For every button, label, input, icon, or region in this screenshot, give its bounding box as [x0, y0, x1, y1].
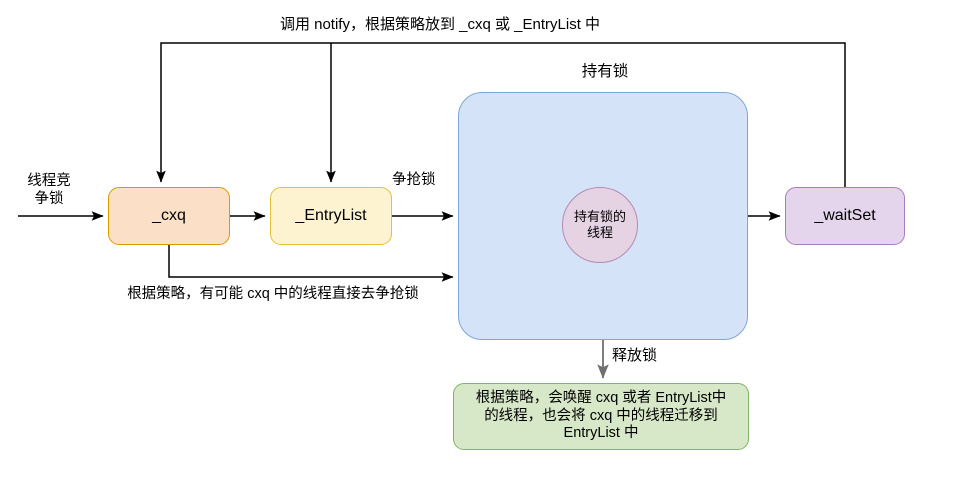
node-waitset[interactable]: _waitSet [785, 187, 905, 245]
node-release-note-label: 根据策略，会唤醒 cxq 或者 EntryList中 的线程，也会将 cxq 中… [476, 390, 727, 443]
node-owner-thread-label: 持有锁的 线程 [574, 209, 626, 241]
node-cxq[interactable]: _cxq [108, 187, 230, 245]
label-contend-lock: 争抢锁 [392, 171, 462, 189]
label-notify: 调用 notify，根据策略放到 _cxq 或 _EntryList 中 [220, 16, 660, 35]
label-release-lock: 释放锁 [612, 347, 692, 366]
edge-cxq-direct-to-lockbox [169, 245, 453, 277]
label-hold-lock: 持有锁 [540, 62, 670, 81]
label-thread-compete: 线程竞 争锁 [14, 172, 84, 208]
diagram-canvas: _cxq _EntryList 持有锁的 线程 _waitSet 根据策略，会唤… [0, 0, 980, 489]
node-entrylist[interactable]: _EntryList [270, 187, 392, 245]
node-waitset-label: _waitSet [814, 206, 875, 226]
node-cxq-label: _cxq [152, 206, 186, 226]
node-release-note[interactable]: 根据策略，会唤醒 cxq 或者 EntryList中 的线程，也会将 cxq 中… [453, 383, 749, 450]
node-owner-thread[interactable]: 持有锁的 线程 [562, 187, 638, 263]
node-entrylist-label: _EntryList [295, 206, 366, 226]
label-policy-direct: 根据策略，有可能 cxq 中的线程直接去争抢锁 [98, 285, 448, 303]
